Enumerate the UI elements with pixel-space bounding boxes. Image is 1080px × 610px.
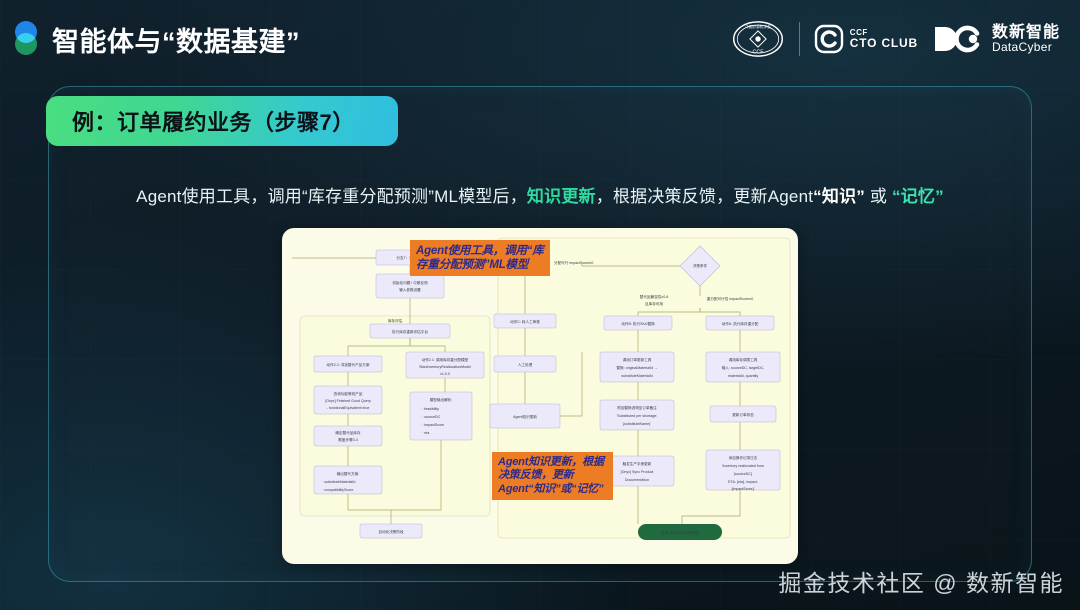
svg-text:动作2.1: 调用库存重分配模型: 动作2.1: 调用库存重分配模型 — [422, 357, 469, 362]
datacyber-cn-name: 数新智能 — [992, 24, 1060, 42]
caption-quote-knowledge: “知识” — [813, 187, 865, 206]
svg-text:· feasibility: · feasibility — [422, 407, 439, 411]
svg-text:ETA: {eta}, impact:: ETA: {eta}, impact: — [728, 480, 758, 484]
svg-text:· impactScore: · impactScore — [422, 423, 444, 427]
svg-text:人工处理: 人工处理 — [518, 362, 533, 367]
caption-part3: 或 — [865, 187, 892, 206]
svg-text:调用库存调拨工具: 调用库存调拨工具 — [729, 357, 758, 362]
svg-text:动作B: 执行SKU替换: 动作B: 执行SKU替换 — [621, 321, 655, 326]
svg-text:初始化问题 / 中断反馈: 初始化问题 / 中断反馈 — [392, 280, 428, 285]
svg-text:触发生产手册更新: 触发生产手册更新 — [623, 461, 652, 466]
flowchart-panel: 库存评估 决策条件 分支7：是否缺货 初始化问题 / 中断反馈 输入参数设置 执… — [282, 228, 798, 564]
svg-text:替代品兼容性≥0.8: 替代品兼容性≥0.8 — [640, 294, 669, 299]
svg-text:重分配可行性 impactScore≥0: 重分配可行性 impactScore≥0 — [707, 296, 754, 301]
svg-text:自动化决策阶段: 自动化决策阶段 — [378, 529, 404, 534]
datacyber-mark-icon — [932, 24, 984, 54]
svg-text:执行库存重新评估平台: 执行库存重新评估平台 — [392, 329, 428, 334]
svg-text:- functionalEquivalent=true: - functionalEquivalent=true — [327, 406, 370, 410]
annotation-knowledge-update: Agent知识更新，根据决策反馈，更新Agent“知识”或“记忆” — [492, 452, 613, 500]
svg-text:materialId, quantity: materialId, quantity — [728, 374, 759, 378]
datacyber-en-name: DataCyber — [992, 41, 1060, 54]
svg-text:{impactScore}': {impactScore}' — [731, 487, 754, 491]
svg-text:substituteMaterialId: substituteMaterialId — [621, 374, 652, 378]
annotation-tool-call: Agent使用工具，调用“库存重分配预测”ML模型 — [410, 240, 550, 276]
svg-text:分配可行 impactScore≥0: 分配可行 impactScore≥0 — [554, 260, 593, 265]
svg-text:CCF: CCF — [752, 49, 764, 55]
svg-text:v1.0.0: v1.0.0 — [440, 372, 450, 376]
svg-text:· eta: · eta — [422, 431, 429, 435]
svg-text:动作C: 转人工审核: 动作C: 转人工审核 — [510, 319, 540, 324]
svg-text:中国计算机学会: 中国计算机学会 — [745, 24, 771, 29]
caption-part2: ，根据决策反馈，更新Agent — [596, 187, 813, 206]
svg-text:输入: sourceDC, targetDC,: 输入: sourceDC, targetDC, — [722, 365, 765, 370]
svg-text:[Onyx] Finished Good Query: [Onyx] Finished Good Query — [325, 399, 371, 403]
page-title: 智能体与“数据基建” — [52, 20, 300, 59]
svg-text:输入参数设置: 输入参数设置 — [399, 287, 421, 292]
partner-logos: CCF 中国计算机学会 CCF CTO CLUB 数新智能 DataCyber — [731, 19, 1060, 59]
svg-text:{substituteName}': {substituteName}' — [623, 422, 651, 426]
flowchart-svg: 库存评估 决策条件 分支7：是否缺货 初始化问题 / 中断反馈 输入参数设置 执… — [282, 228, 798, 564]
brand-logo-icon — [13, 21, 39, 57]
ccf-seal-icon: CCF 中国计算机学会 — [731, 19, 785, 59]
svg-text:{sourceDC}: {sourceDC} — [734, 472, 753, 476]
svg-text:StanInventoryReallocationModel: StanInventoryReallocationModel — [419, 365, 471, 369]
caption-highlight-knowledge-update: 知识更新 — [527, 187, 596, 206]
watermark: 掘金技术社区 @ 数新智能 — [778, 564, 1064, 598]
caption-line: Agent使用工具，调用“库存重分配预测”ML模型后，知识更新，根据决策反馈，更… — [0, 182, 1080, 207]
svg-text:'Substituted per shortage:: 'Substituted per shortage: — [617, 414, 658, 418]
svg-text:调用订单更新工具: 调用订单更新工具 — [623, 357, 652, 362]
cto-club-line2: CTO CLUB — [850, 37, 918, 50]
svg-text:添加操作记录日志: 添加操作记录日志 — [729, 455, 758, 460]
datacyber-logo: 数新智能 DataCyber — [932, 24, 1060, 55]
svg-text:模型输出解析:: 模型输出解析: — [430, 397, 453, 402]
svg-text:覆盖步骤3-4: 覆盖步骤3-4 — [338, 437, 358, 442]
section-badge: 例：订单履约业务（步骤7） — [46, 96, 398, 146]
svg-text:库存评估: 库存评估 — [388, 318, 403, 323]
svg-text:· compatibilityScore: · compatibilityScore — [322, 488, 353, 492]
slide-header: 智能体与“数据基建” CCF 中国计算机学会 CCF CTO CLUB — [0, 0, 1080, 78]
ccf-cto-club-logo: CCF CTO CLUB — [814, 24, 918, 54]
cto-club-mark-icon — [814, 24, 844, 54]
logo-divider — [799, 22, 800, 56]
svg-text:Documentation: Documentation — [625, 478, 649, 482]
svg-text:确定替代品库存: 确定替代品库存 — [335, 430, 361, 435]
svg-text:Agent知识更新: Agent知识更新 — [513, 414, 537, 419]
svg-text:查询功能等效产品: 查询功能等效产品 — [334, 391, 363, 396]
svg-text:[Onyx] Sync Product: [Onyx] Sync Product — [621, 470, 654, 474]
svg-text:更新订单状态: 更新订单状态 — [732, 412, 754, 417]
caption-part1: Agent使用工具，调用“库存重分配预测”ML模型后， — [136, 187, 527, 206]
svg-text:决策条件: 决策条件 — [693, 263, 708, 268]
svg-text:结束: 库存不足处理完成: 结束: 库存不足处理完成 — [661, 530, 699, 535]
svg-text:替换: originalMaterialId →: 替换: originalMaterialId → — [616, 365, 657, 370]
svg-text:· sourceDC: · sourceDC — [422, 415, 441, 419]
caption-quote-memory: “记忆” — [892, 187, 944, 206]
svg-text:且库存可用: 且库存可用 — [645, 301, 663, 306]
svg-text:动作A: 执行库存重分配: 动作A: 执行库存重分配 — [722, 321, 759, 326]
svg-text:· substituteMaterialId: · substituteMaterialId — [322, 480, 355, 484]
svg-text:附加替换说明至订单备注: 附加替换说明至订单备注 — [617, 405, 657, 410]
svg-text:动作2.2: 寻找替代产品方案: 动作2.2: 寻找替代产品方案 — [327, 362, 370, 367]
svg-text:输出替代方案:: 输出替代方案: — [337, 471, 360, 476]
svg-text:'Inventory reallocated from: 'Inventory reallocated from — [722, 464, 764, 468]
